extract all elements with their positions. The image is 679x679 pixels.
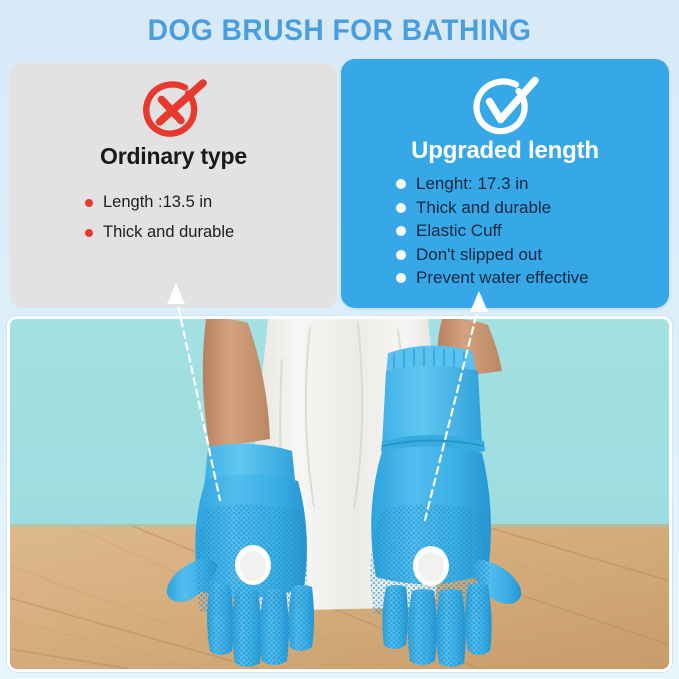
list-item-label: Thick and durable — [103, 223, 234, 242]
list-item: Lenght: 17.3 in — [396, 174, 589, 194]
bullet-dot-icon — [85, 229, 93, 237]
upgraded-length-card: Upgraded length Lenght: 17.3 in Thick an… — [341, 59, 669, 308]
ordinary-card-bullets: Length :13.5 in Thick and durable — [85, 193, 234, 253]
list-item: Length :13.5 in — [85, 193, 234, 212]
bullet-dot-icon — [396, 203, 406, 213]
ordinary-card-heading: Ordinary type — [10, 143, 337, 170]
comparison-cards: Ordinary type Length :13.5 in Thick and … — [0, 0, 679, 312]
list-item: Elastic Cuff — [396, 221, 589, 241]
bullet-dot-icon — [85, 199, 93, 207]
list-item: Prevent water effective — [396, 268, 589, 288]
bullet-dot-icon — [396, 273, 406, 283]
cross-circle-icon-wrap — [10, 77, 337, 139]
list-item-label: Elastic Cuff — [416, 221, 502, 241]
list-item: Don't slipped out — [396, 245, 589, 265]
check-circle-icon-wrap — [341, 75, 669, 137]
list-item: Thick and durable — [396, 198, 589, 218]
bullet-dot-icon — [396, 250, 406, 260]
product-photo-image — [10, 319, 669, 669]
list-item-label: Don't slipped out — [416, 245, 542, 265]
list-item-label: Length :13.5 in — [103, 193, 212, 212]
upgraded-card-bullets: Lenght: 17.3 in Thick and durable Elasti… — [396, 174, 589, 292]
list-item-label: Prevent water effective — [416, 268, 589, 288]
list-item: Thick and durable — [85, 223, 234, 242]
ordinary-type-card: Ordinary type Length :13.5 in Thick and … — [10, 63, 337, 308]
product-photo — [7, 316, 672, 672]
cross-circle-icon — [139, 77, 209, 139]
list-item-label: Thick and durable — [416, 198, 551, 218]
bullet-dot-icon — [396, 226, 406, 236]
upgraded-card-heading: Upgraded length — [341, 137, 669, 165]
list-item-label: Lenght: 17.3 in — [416, 174, 528, 194]
bullet-dot-icon — [396, 179, 406, 189]
check-circle-icon — [469, 75, 541, 137]
